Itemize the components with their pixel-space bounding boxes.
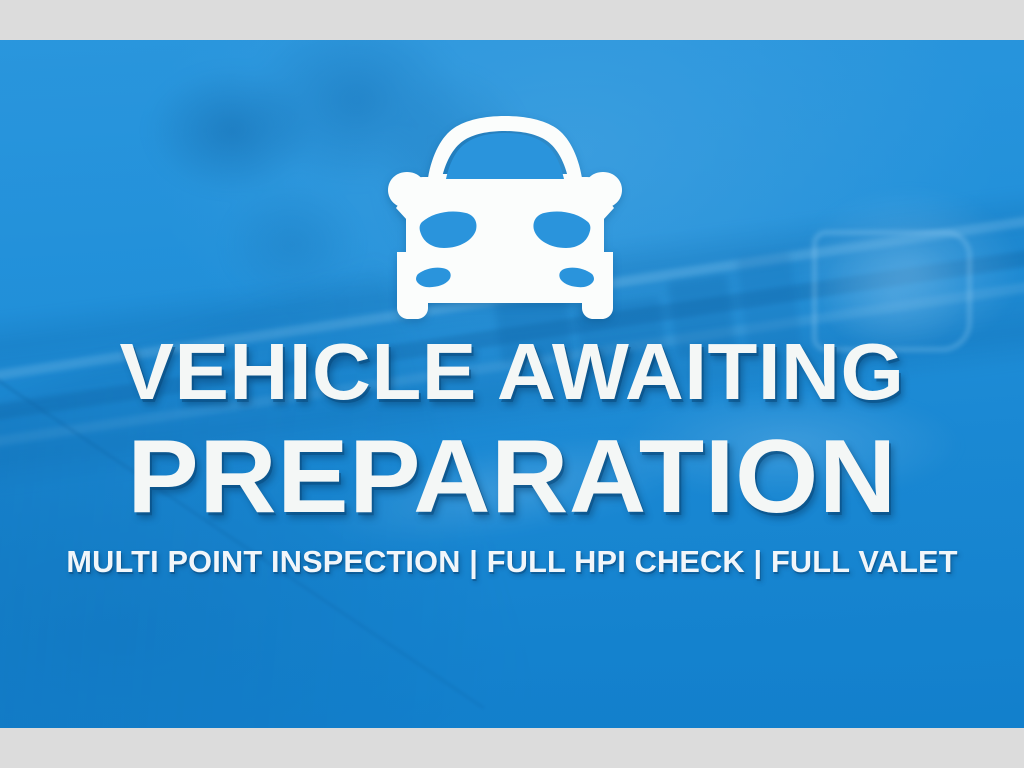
headline-line-2: PREPARATION <box>0 422 1024 532</box>
top-letterbox-bar <box>0 0 1024 40</box>
banner-artwork: VEHICLE AWAITING PREPARATION MULTI POINT… <box>0 40 1024 728</box>
placeholder-banner: VEHICLE AWAITING PREPARATION MULTI POINT… <box>0 0 1024 768</box>
services-subtitle: MULTI POINT INSPECTION | FULL HPI CHECK … <box>5 545 1019 579</box>
bottom-letterbox-bar <box>0 728 1024 768</box>
car-front-icon <box>366 82 644 320</box>
headline-line-1: VEHICLE AWAITING <box>0 330 1024 414</box>
